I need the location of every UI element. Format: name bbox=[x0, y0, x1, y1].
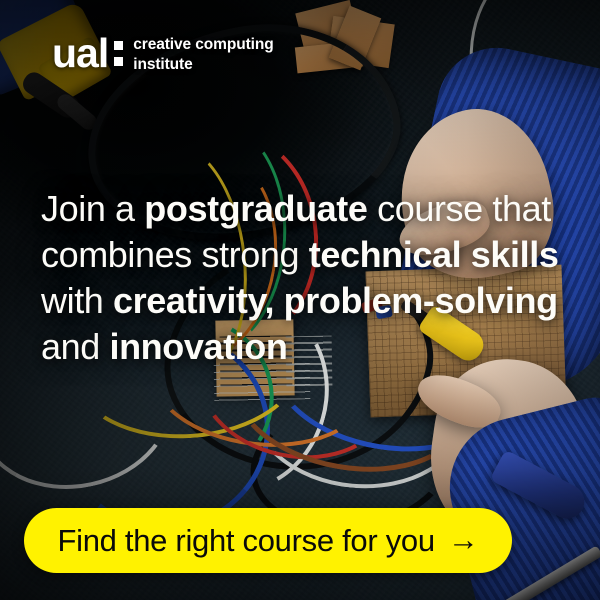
headline-text: combines strong bbox=[41, 234, 309, 275]
colon-icon bbox=[114, 41, 123, 66]
ual-cci-logo[interactable]: ual creative computing institute bbox=[52, 33, 274, 75]
headline-line-3: with creativity, problem-solving bbox=[41, 278, 581, 324]
headline-text: course that bbox=[368, 188, 551, 229]
logo-subtitle-line1: creative computing bbox=[133, 35, 273, 55]
headline-text: with bbox=[41, 280, 113, 321]
headline-emphasis: creativity, problem-solving bbox=[113, 280, 558, 321]
logo-subtitle: creative computing institute bbox=[133, 33, 273, 75]
ual-cci-advert: ual creative computing institute Join a … bbox=[0, 0, 600, 600]
headline-text: Join a bbox=[41, 188, 144, 229]
find-course-button[interactable]: Find the right course for you → bbox=[24, 508, 512, 573]
headline-emphasis: technical skills bbox=[309, 234, 559, 275]
headline-line-2: combines strong technical skills bbox=[41, 232, 581, 278]
headline-text: and bbox=[41, 326, 109, 367]
find-course-button-text: Find the right course for you bbox=[58, 523, 435, 559]
logo-subtitle-line2: institute bbox=[133, 55, 273, 75]
headline-emphasis: postgraduate bbox=[144, 188, 367, 229]
advert-content: ual creative computing institute Join a … bbox=[0, 0, 600, 600]
ual-wordmark: ual bbox=[52, 33, 123, 74]
headline-emphasis: innovation bbox=[109, 326, 287, 367]
arrow-right-icon: → bbox=[448, 524, 479, 555]
headline-line-1: Join a postgraduate course that bbox=[41, 186, 581, 232]
ual-wordmark-text: ual bbox=[52, 33, 108, 74]
headline: Join a postgraduate course thatcombines … bbox=[41, 186, 581, 370]
find-course-button-label: Find the right course for you → bbox=[58, 523, 479, 559]
headline-line-4: and innovation bbox=[41, 324, 581, 370]
